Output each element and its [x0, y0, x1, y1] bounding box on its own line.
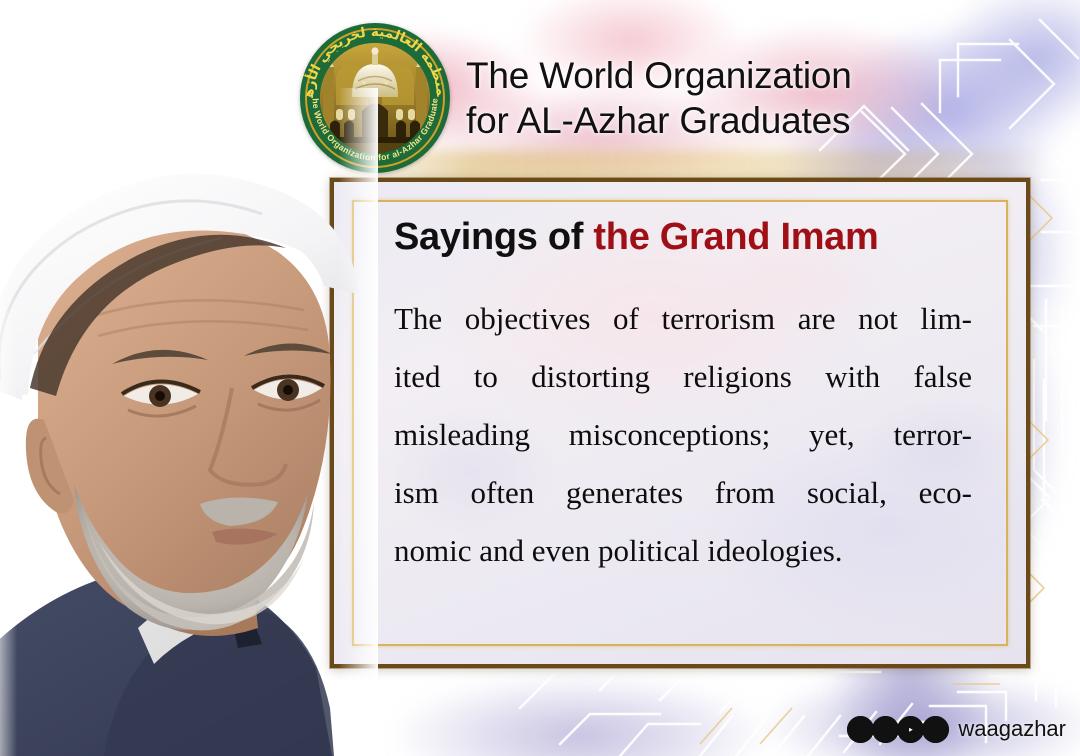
quote-line: ism often generates from social, eco-: [394, 464, 972, 522]
quote-line: nomic and even political ideologies.: [394, 522, 972, 580]
youtube-icon[interactable]: [897, 716, 924, 743]
social-handle: waagazhar: [958, 716, 1066, 742]
poster-canvas: المنظمة العالمية لخريجي الأزهر The World…: [0, 0, 1080, 756]
social-bar: waagazhar: [847, 712, 1066, 746]
quote-card-content: Sayings of the Grand Imam The objectives…: [394, 214, 990, 642]
header: المنظمة العالمية لخريجي الأزهر The World…: [300, 22, 960, 174]
instagram-icon[interactable]: [922, 716, 949, 743]
facebook-icon[interactable]: [847, 716, 874, 743]
org-title-line-1: The World Organization: [466, 53, 852, 98]
quote-line: ited to distorting religions with false: [394, 348, 972, 406]
quote-text: The objectives of terrorism are not lim-…: [394, 290, 972, 580]
svg-text:The World Organization for al-: The World Organization for al-Azhar Grad…: [300, 23, 440, 163]
grand-imam-portrait: [0, 88, 378, 756]
organization-logo: المنظمة العالمية لخريجي الأزهر The World…: [300, 23, 450, 173]
organization-title: The World Organization for AL-Azhar Grad…: [466, 53, 852, 143]
quote-heading: Sayings of the Grand Imam: [394, 214, 990, 260]
twitter-icon[interactable]: [872, 716, 899, 743]
quote-line: The objectives of terrorism are not lim-: [394, 290, 972, 348]
quote-heading-highlight: the Grand Imam: [593, 216, 878, 258]
quote-heading-prefix: Sayings of: [394, 216, 583, 258]
org-title-line-2: for AL-Azhar Graduates: [466, 98, 852, 143]
quote-card: Sayings of the Grand Imam The objectives…: [330, 178, 1030, 668]
logo-english-arc-text: The World Organization for al-Azhar Grad…: [300, 23, 450, 173]
quote-line: misleading misconceptions; yet, terror-: [394, 406, 972, 464]
